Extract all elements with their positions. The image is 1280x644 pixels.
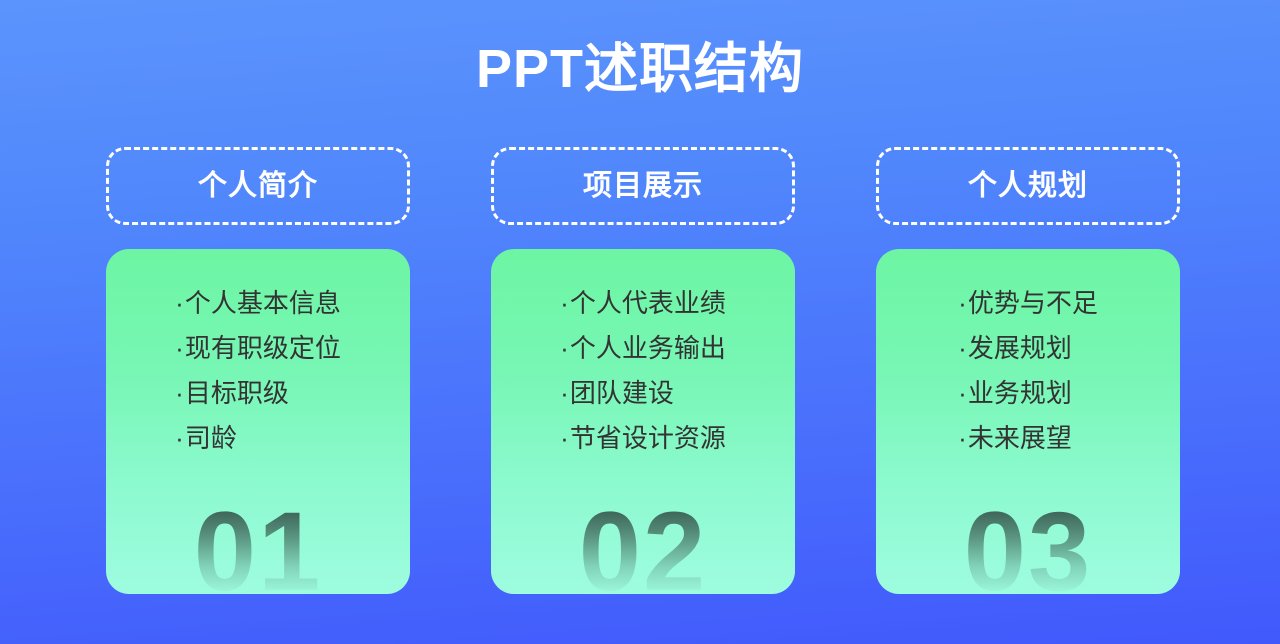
list-item: · 发展规划 xyxy=(958,326,1072,371)
slide-canvas: PPT述职结构 个人简介 · 个人基本信息 · 现有职级定位 xyxy=(0,0,1280,644)
list-item-label: 司龄 xyxy=(185,416,237,461)
list-item-label: 优势与不足 xyxy=(968,281,1098,326)
list-item-label: 未来展望 xyxy=(968,416,1072,461)
card-number-1: 01 xyxy=(106,496,410,594)
structure-columns: 个人简介 · 个人基本信息 · 现有职级定位 · xyxy=(106,147,1180,594)
list-item: · 现有职级定位 xyxy=(175,326,341,371)
bullet-dot-icon: · xyxy=(175,326,184,371)
list-item: · 个人基本信息 xyxy=(175,281,341,326)
bullet-dot-icon: · xyxy=(560,416,569,461)
section-pill-label-2: 项目展示 xyxy=(583,172,703,201)
bullet-group-2: · 个人代表业绩 · 个人业务输出 · 团队建设 · xyxy=(491,281,795,461)
list-item: · 未来展望 xyxy=(958,416,1072,461)
bullet-dot-icon: · xyxy=(560,371,569,416)
section-card-1: · 个人基本信息 · 现有职级定位 · 目标职级 · xyxy=(106,249,410,594)
bullet-group-3: · 优势与不足 · 发展规划 · 业务规划 · xyxy=(876,281,1180,461)
bullet-dot-icon: · xyxy=(958,326,967,371)
section-card-2: · 个人代表业绩 · 个人业务输出 · 团队建设 · xyxy=(491,249,795,594)
list-item: · 团队建设 xyxy=(560,371,674,416)
structure-column-3: 个人规划 · 优势与不足 · 发展规划 · xyxy=(876,147,1180,594)
section-card-3: · 优势与不足 · 发展规划 · 业务规划 · xyxy=(876,249,1180,594)
bullet-dot-icon: · xyxy=(175,281,184,326)
structure-column-2: 项目展示 · 个人代表业绩 · 个人业务输出 · xyxy=(491,147,795,594)
bullet-list-3: · 优势与不足 · 发展规划 · 业务规划 · xyxy=(958,281,1098,461)
bullet-dot-icon: · xyxy=(175,416,184,461)
bullet-dot-icon: · xyxy=(175,371,184,416)
page-title: PPT述职结构 xyxy=(0,40,1280,99)
list-item-label: 目标职级 xyxy=(185,371,289,416)
list-item: · 个人业务输出 xyxy=(560,326,726,371)
list-item: · 个人代表业绩 xyxy=(560,281,726,326)
bullet-dot-icon: · xyxy=(560,281,569,326)
list-item-label: 业务规划 xyxy=(968,371,1072,416)
bullet-list-2: · 个人代表业绩 · 个人业务输出 · 团队建设 · xyxy=(560,281,726,461)
list-item: · 优势与不足 xyxy=(958,281,1098,326)
list-item: · 业务规划 xyxy=(958,371,1072,416)
bullet-dot-icon: · xyxy=(958,416,967,461)
list-item-label: 团队建设 xyxy=(570,371,674,416)
card-number-3: 03 xyxy=(876,496,1180,594)
bullet-dot-icon: · xyxy=(958,371,967,416)
list-item-label: 节省设计资源 xyxy=(570,416,726,461)
bullet-dot-icon: · xyxy=(560,326,569,371)
list-item-label: 个人业务输出 xyxy=(570,326,726,371)
list-item-label: 现有职级定位 xyxy=(185,326,341,371)
section-pill-label-3: 个人规划 xyxy=(968,172,1088,201)
list-item-label: 发展规划 xyxy=(968,326,1072,371)
bullet-dot-icon: · xyxy=(958,281,967,326)
section-pill-1[interactable]: 个人简介 xyxy=(106,147,410,225)
bullet-list-1: · 个人基本信息 · 现有职级定位 · 目标职级 · xyxy=(175,281,341,461)
list-item: · 目标职级 xyxy=(175,371,289,416)
list-item-label: 个人基本信息 xyxy=(185,281,341,326)
structure-column-1: 个人简介 · 个人基本信息 · 现有职级定位 · xyxy=(106,147,410,594)
list-item: · 司龄 xyxy=(175,416,237,461)
bullet-group-1: · 个人基本信息 · 现有职级定位 · 目标职级 · xyxy=(106,281,410,461)
card-number-2: 02 xyxy=(491,496,795,594)
list-item: · 节省设计资源 xyxy=(560,416,726,461)
section-pill-label-1: 个人简介 xyxy=(198,172,318,201)
section-pill-3[interactable]: 个人规划 xyxy=(876,147,1180,225)
list-item-label: 个人代表业绩 xyxy=(570,281,726,326)
section-pill-2[interactable]: 项目展示 xyxy=(491,147,795,225)
